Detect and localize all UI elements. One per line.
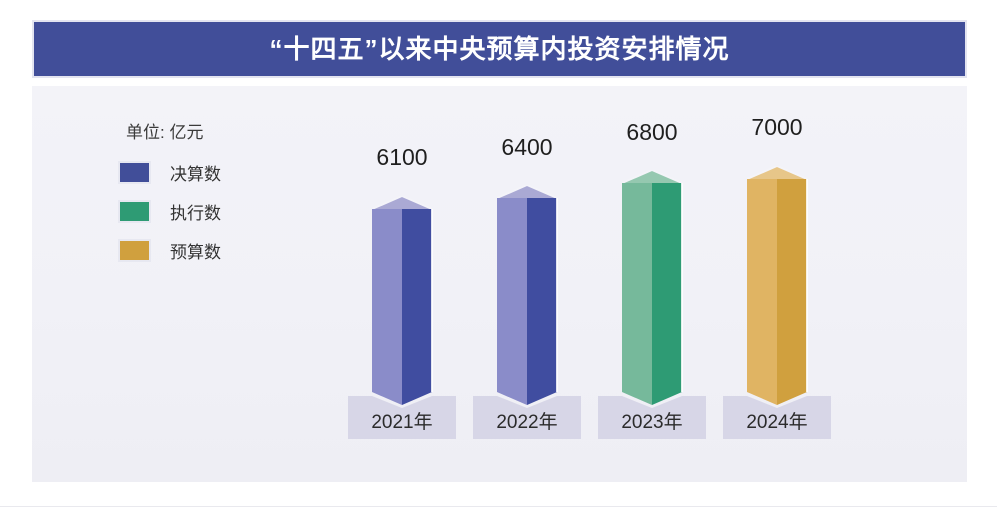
bar-left-face <box>497 198 527 392</box>
bar-right-face <box>652 183 682 392</box>
bar-bottom-face <box>747 392 807 406</box>
bar-right-face <box>777 179 807 392</box>
legend-swatch-yu-suan-shu <box>118 239 151 262</box>
legend-swatch-jue-suan-shu <box>118 161 151 184</box>
card-bottom-divider <box>0 506 997 507</box>
bar-group: 70002024年 <box>717 0 837 510</box>
legend-item-1: 执行数 <box>118 196 298 226</box>
legend-item-0: 决算数 <box>118 157 298 187</box>
legend-item-2: 预算数 <box>118 235 298 265</box>
bar-value-label: 6100 <box>342 146 462 169</box>
chart-legend: 单位: 亿元 决算数 执行数 预算数 <box>118 118 298 274</box>
bar-value-label: 6800 <box>592 121 712 144</box>
bar-column[interactable] <box>717 166 837 406</box>
bar-left-face <box>747 179 777 392</box>
legend-label-1: 执行数 <box>170 199 221 224</box>
bar-bottom-face <box>497 392 557 406</box>
bar-value-label: 6400 <box>467 136 587 159</box>
bar-bottom-face <box>622 392 682 406</box>
legend-label-0: 决算数 <box>170 160 221 185</box>
bar-left-face <box>372 209 402 392</box>
bar-body-faces <box>372 209 432 392</box>
infographic-card: “十四五”以来中央预算内投资安排情况 单位: 亿元 决算数 执行数 预算数 61… <box>0 0 997 510</box>
bar-group: 61002021年 <box>342 0 462 510</box>
bar-column[interactable] <box>342 196 462 406</box>
bar-center-edge <box>556 198 558 392</box>
bar-center-edge <box>681 183 683 392</box>
bar-left-face <box>622 183 652 392</box>
bar-body-faces <box>622 183 682 392</box>
bar-value-label: 7000 <box>717 116 837 139</box>
bar-column[interactable] <box>592 170 712 406</box>
bar-bottom-face <box>372 392 432 406</box>
bar-body-faces <box>497 198 557 392</box>
bar-group: 68002023年 <box>592 0 712 510</box>
bar-body-faces <box>747 179 807 392</box>
bar-center-edge <box>431 209 433 392</box>
bar-right-face <box>402 209 432 392</box>
bar-center-edge <box>806 179 808 392</box>
legend-swatch-zhi-xing-shu <box>118 200 151 223</box>
legend-label-2: 预算数 <box>170 238 221 263</box>
bar-column[interactable] <box>467 185 587 406</box>
unit-label: 单位: 亿元 <box>126 118 298 143</box>
bar-group: 64002022年 <box>467 0 587 510</box>
bar-right-face <box>527 198 557 392</box>
